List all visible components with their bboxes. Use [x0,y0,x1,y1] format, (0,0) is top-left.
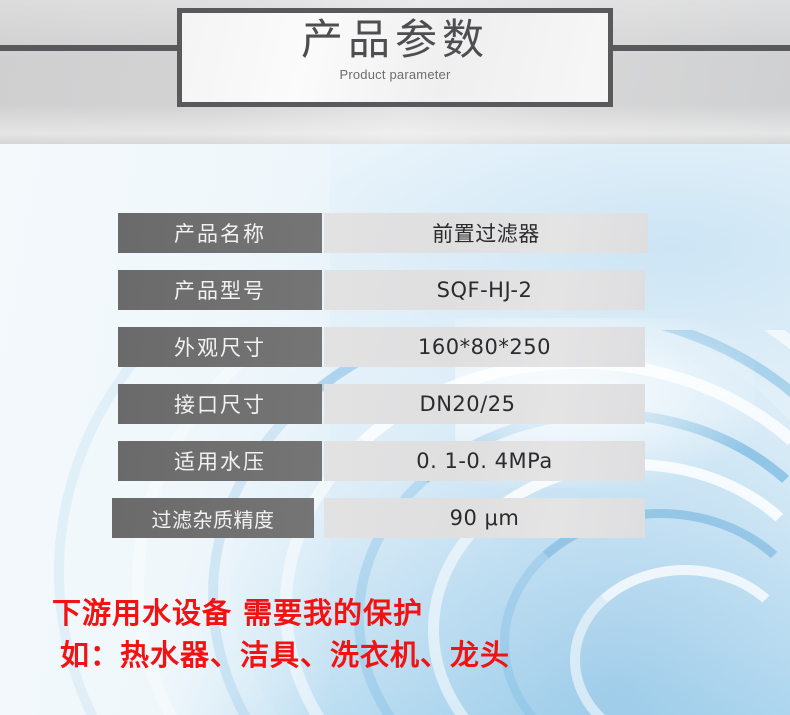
spec-label-connection-size: 接口尺寸 [118,384,322,424]
product-parameter-page: 产品参数 Product parameter 产品名称 前置过滤器 产品型号 S… [0,0,790,715]
spec-label-working-pressure: 适用水压 [118,441,322,481]
table-row: 适用水压 0. 1-0. 4MPa [0,441,790,481]
page-title: 产品参数 [301,17,489,62]
header-rule-right [610,45,790,51]
spec-label-product-name: 产品名称 [118,213,322,253]
spec-label-overall-dimensions: 外观尺寸 [118,327,322,367]
page-subtitle: Product parameter [339,67,450,82]
page-title-frame: 产品参数 Product parameter [177,8,613,107]
spec-label-product-model: 产品型号 [118,270,322,310]
spec-value-working-pressure: 0. 1-0. 4MPa [324,441,645,481]
spec-value-overall-dimensions: 160*80*250 [324,327,645,367]
table-row: 产品名称 前置过滤器 [0,213,790,253]
table-row: 产品型号 SQF-HJ-2 [0,270,790,310]
spec-label-filtration-precision: 过滤杂质精度 [112,498,314,538]
table-row: 外观尺寸 160*80*250 [0,327,790,367]
spec-value-filtration-precision: 90 μm [324,498,645,538]
header-rule-left [0,45,180,51]
spec-value-connection-size: DN20/25 [324,384,645,424]
slogan-block: 下游用水设备 需要我的保护 如：热水器、洁具、洗衣机、龙头 [0,596,790,672]
spec-value-product-model: SQF-HJ-2 [324,270,645,310]
slogan-line-1: 下游用水设备 需要我的保护 [52,596,423,630]
table-row: 过滤杂质精度 90 μm [0,498,790,538]
table-row: 接口尺寸 DN20/25 [0,384,790,424]
spec-value-product-name: 前置过滤器 [324,213,648,253]
slogan-line-2: 如：热水器、洁具、洗衣机、龙头 [60,638,510,672]
spec-table: 产品名称 前置过滤器 产品型号 SQF-HJ-2 外观尺寸 160*80*250… [0,213,790,555]
